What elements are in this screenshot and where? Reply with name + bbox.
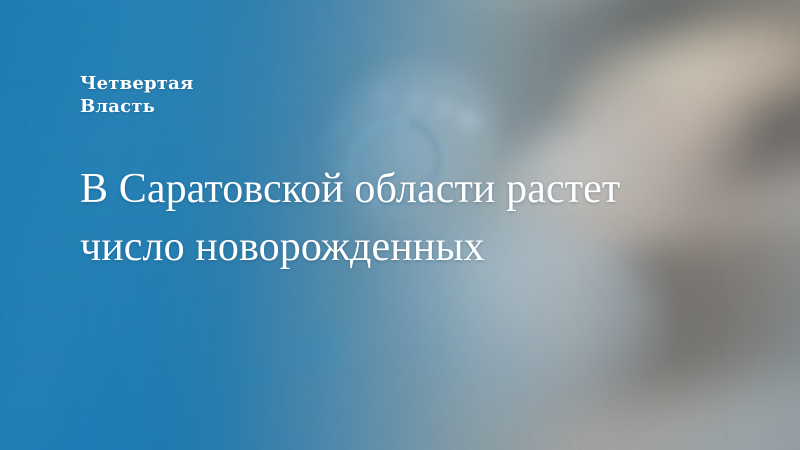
page-title: В Саратовской области растет число новор… bbox=[80, 160, 640, 276]
card-content: Четвертая Власть В Саратовской области р… bbox=[0, 0, 800, 450]
article-preview-card: Четвертая Власть В Саратовской области р… bbox=[0, 0, 800, 450]
brand-logo-text[interactable]: Четвертая Власть bbox=[80, 72, 194, 118]
